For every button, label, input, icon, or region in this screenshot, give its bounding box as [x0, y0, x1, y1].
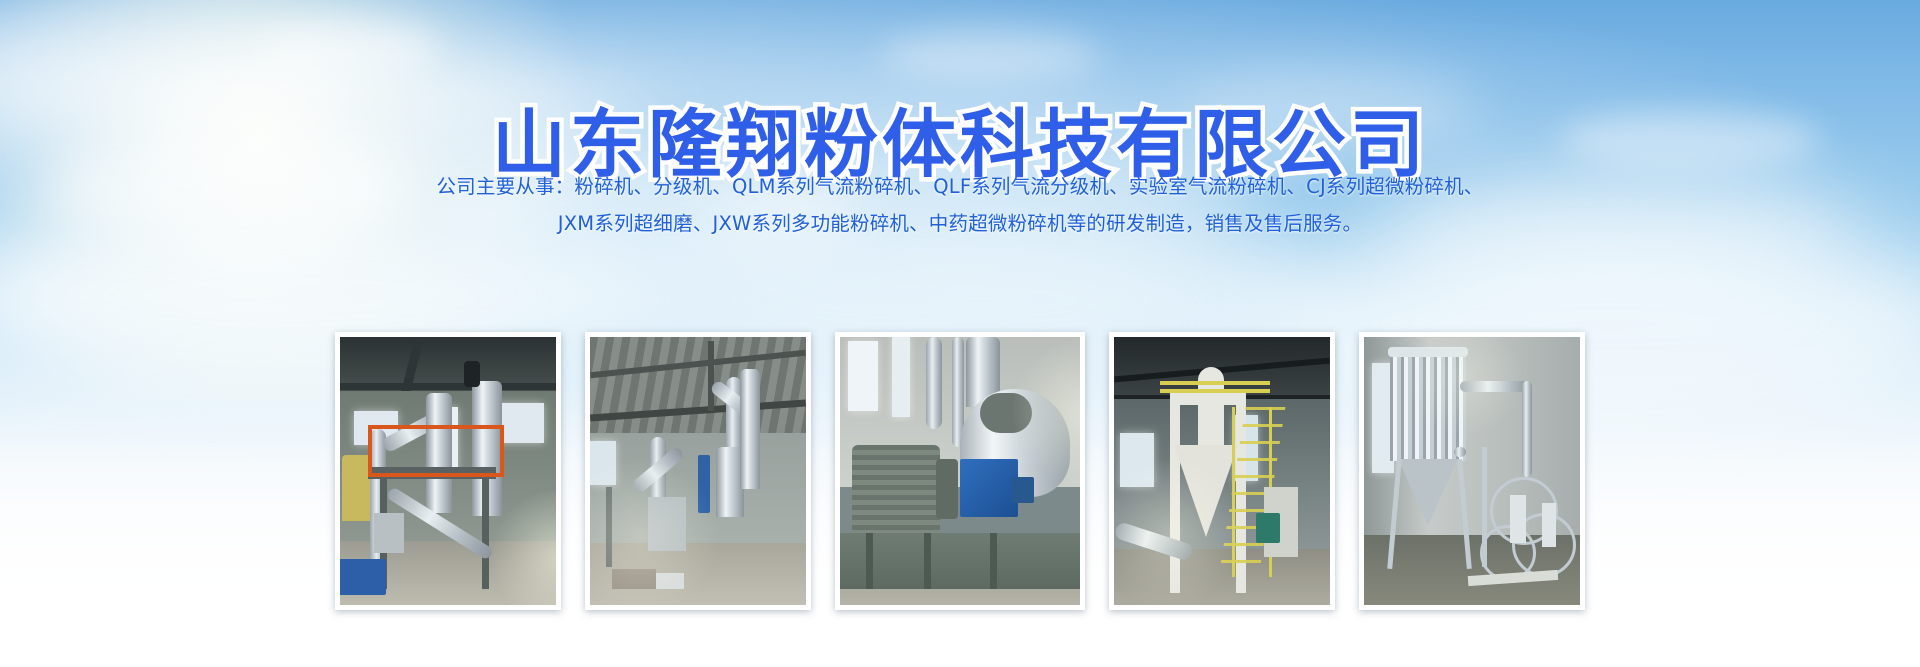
product-photo-1[interactable] — [335, 332, 561, 610]
subtitle-line-1: 公司主要从事：粉碎机、分级机、QLM系列气流粉碎机、QLF系列气流分级机、实验室… — [0, 168, 1920, 205]
subtitle-line-2: JXM系列超细磨、JXW系列多功能粉碎机、中药超微粉碎机等的研发制造，销售及售后… — [0, 205, 1920, 242]
product-photo-3[interactable] — [835, 332, 1085, 610]
product-photo-2[interactable] — [585, 332, 811, 610]
company-hero-banner: 山东隆翔粉体科技有限公司 公司主要从事：粉碎机、分级机、QLM系列气流粉碎机、Q… — [0, 0, 1920, 667]
banner-subtitle-wrap: 公司主要从事：粉碎机、分级机、QLM系列气流粉碎机、QLF系列气流分级机、实验室… — [0, 168, 1920, 242]
product-photo-strip — [0, 332, 1920, 610]
product-photo-4[interactable] — [1109, 332, 1335, 610]
product-photo-5[interactable] — [1359, 332, 1585, 610]
